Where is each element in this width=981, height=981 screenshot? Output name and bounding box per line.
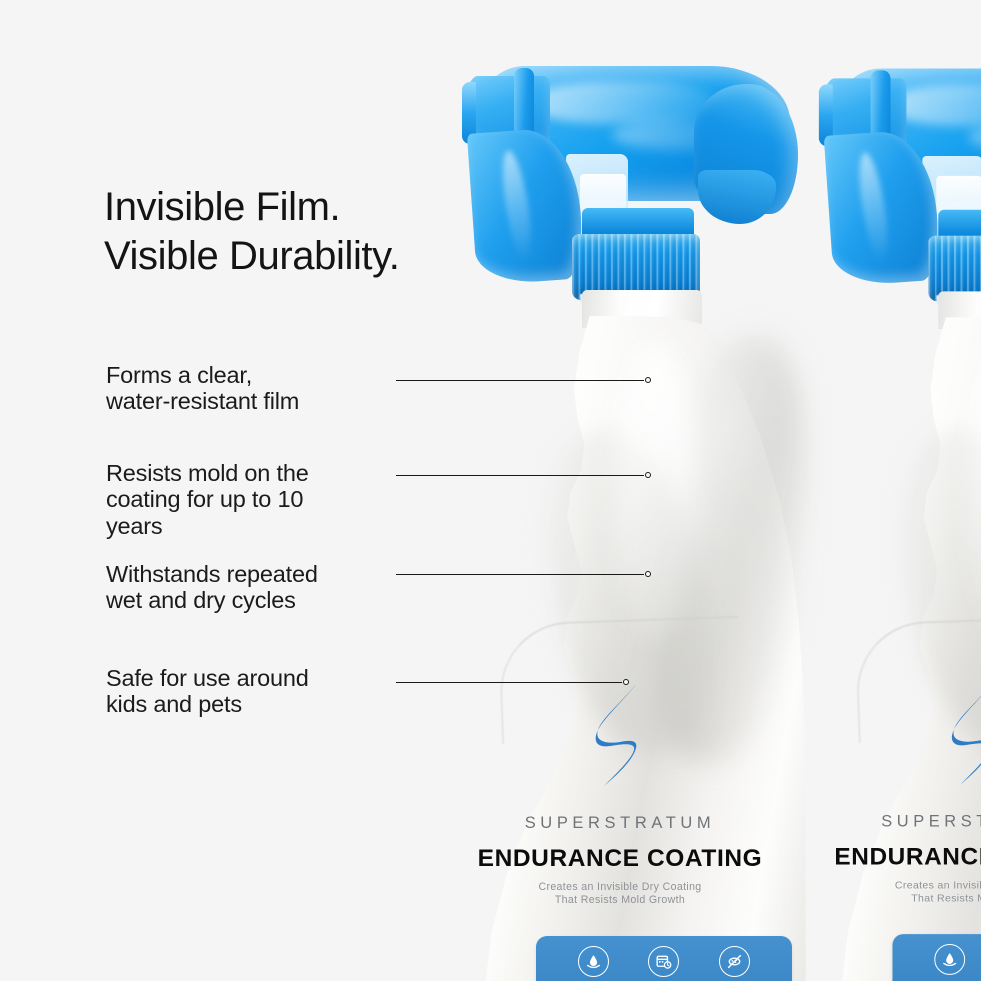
feature-callout-kid-pet-safe: Safe for use around kids and pets (106, 665, 309, 718)
feature-callout-clear-film: Forms a clear, water-resistant film (106, 362, 299, 415)
benefit-icons-row (536, 946, 792, 977)
product-marketing-image: SUPERSTRATUM ENDURANCE COATING Creates a… (0, 0, 981, 981)
primary-bottle-label: SUPERSTRATUM ENDURANCE COATING Creates a… (462, 290, 807, 981)
leader-line-3 (396, 574, 644, 575)
leader-dot-4 (623, 679, 629, 685)
primary-spray-bottle: SUPERSTRATUM ENDURANCE COATING Creates a… (462, 58, 807, 981)
sprayer-hood-skirt (698, 170, 776, 224)
benefits-strip: water-resistant • long-lasting • invisib… (536, 936, 792, 981)
secondary-bottle-clip: SUPERSTRATUM ENDURANCE COATING Creates a… (818, 58, 981, 981)
secondary-spray-bottle: SUPERSTRATUM ENDURANCE COATING Creates a… (819, 60, 981, 981)
leader-dot-2 (645, 472, 651, 478)
leader-line-4 (396, 682, 622, 683)
feature-label: Safe for use around kids and pets (106, 665, 309, 718)
feature-label: Forms a clear, water-resistant film (106, 362, 299, 415)
secondary-sprayer-head (819, 60, 981, 304)
feature-callout-mold-resist: Resists mold on the coating for up to 10… (106, 460, 309, 539)
leader-dot-3 (645, 571, 651, 577)
product-name: ENDURANCE COATING (462, 845, 778, 873)
leader-line-1 (396, 380, 644, 381)
benefits-strip: water-resistant • long-lasting • invisib… (892, 934, 981, 981)
no-germ-icon (719, 946, 750, 977)
primary-bottle-body-group: SUPERSTRATUM ENDURANCE COATING Creates a… (462, 290, 807, 981)
s-bolt-logo-icon (946, 677, 981, 788)
feature-callout-wet-dry: Withstands repeated wet and dry cycles (106, 561, 318, 614)
primary-sprayer-head (462, 58, 807, 303)
water-drop-icon (578, 946, 609, 977)
hood-gloss-highlight (528, 82, 718, 124)
s-bolt-logo-icon (590, 678, 652, 790)
leader-dot-1 (645, 377, 651, 383)
benefit-icons-row (892, 944, 981, 975)
page-headline: Invisible Film. Visible Durability. (104, 183, 400, 281)
secondary-bottle-label: SUPERSTRATUM ENDURANCE COATING Creates a… (819, 291, 981, 981)
leader-line-2 (396, 475, 644, 476)
brand-name: SUPERSTRATUM (819, 813, 981, 832)
product-tagline: Creates an Invisible Dry Coating That Re… (462, 881, 778, 908)
feature-label: Resists mold on the coating for up to 10… (106, 460, 309, 539)
product-name: ENDURANCE COATING (819, 844, 981, 872)
feature-label: Withstands repeated wet and dry cycles (106, 561, 318, 614)
product-tagline: Creates an Invisible Dry Coating That Re… (819, 879, 981, 906)
brand-name: SUPERSTRATUM (462, 814, 778, 833)
water-drop-icon (934, 944, 965, 975)
secondary-bottle-body-group: SUPERSTRATUM ENDURANCE COATING Creates a… (819, 291, 981, 981)
calendar-clock-icon (648, 946, 679, 977)
